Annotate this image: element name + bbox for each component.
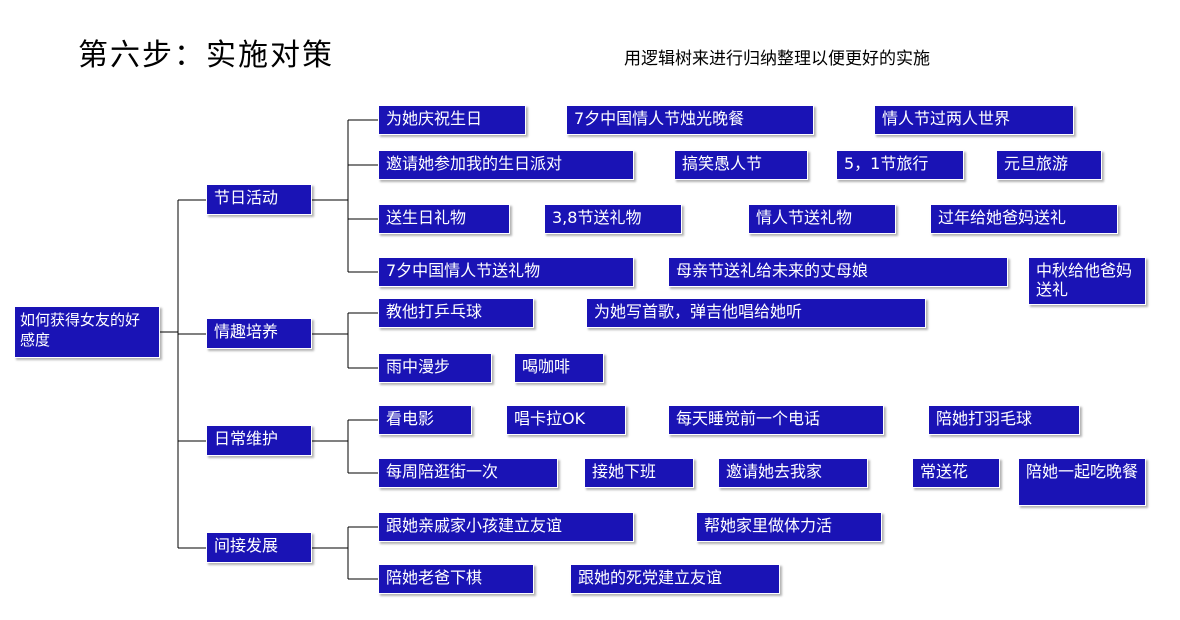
leaf-node[interactable]: 3,8节送礼物 (544, 204, 682, 234)
leaf-node[interactable]: 陪她老爸下棋 (378, 564, 534, 594)
leaf-node[interactable]: 邀请她去我家 (718, 458, 868, 488)
leaf-node[interactable]: 过年给她爸妈送礼 (930, 204, 1118, 234)
leaf-node[interactable]: 陪她打羽毛球 (928, 405, 1080, 435)
leaf-node[interactable]: 送生日礼物 (378, 204, 510, 234)
leaf-node[interactable]: 唱卡拉OK (506, 405, 626, 435)
leaf-node[interactable]: 情人节过两人世界 (874, 105, 1074, 135)
leaf-node[interactable]: 雨中漫步 (378, 353, 492, 383)
leaf-node[interactable]: 7夕中国情人节烛光晚餐 (566, 105, 814, 135)
branch-node-festival[interactable]: 节日活动 (206, 184, 312, 215)
leaf-node[interactable]: 跟她的死党建立友谊 (570, 564, 780, 594)
leaf-node[interactable]: 7夕中国情人节送礼物 (378, 257, 634, 287)
leaf-node[interactable]: 每天睡觉前一个电话 (668, 405, 884, 435)
branch-node-interest[interactable]: 情趣培养 (206, 318, 312, 349)
leaf-node[interactable]: 中秋给他爸妈送礼 (1028, 257, 1146, 305)
leaf-node[interactable]: 邀请她参加我的生日派对 (378, 150, 634, 180)
leaf-node[interactable]: 情人节送礼物 (748, 204, 896, 234)
leaf-node[interactable]: 教他打乒乓球 (378, 298, 534, 328)
leaf-node[interactable]: 喝咖啡 (514, 353, 604, 383)
leaf-node[interactable]: 陪她一起吃晚餐 (1018, 458, 1146, 506)
leaf-node[interactable]: 看电影 (378, 405, 472, 435)
root-node[interactable]: 如何获得女友的好感度 (14, 306, 160, 358)
leaf-node[interactable]: 搞笑愚人节 (674, 150, 808, 180)
leaf-node[interactable]: 5，1节旅行 (836, 150, 964, 180)
leaf-node[interactable]: 为她庆祝生日 (378, 105, 526, 135)
branch-node-indirect[interactable]: 间接发展 (206, 532, 312, 563)
diagram-canvas: 第六步：实施对策 用逻辑树来进行归纳整理以便更好的实施 (0, 0, 1180, 620)
leaf-node[interactable]: 跟她亲戚家小孩建立友谊 (378, 512, 634, 542)
leaf-node[interactable]: 帮她家里做体力活 (696, 512, 882, 542)
leaf-node[interactable]: 每周陪逛街一次 (378, 458, 558, 488)
leaf-node[interactable]: 母亲节送礼给未来的丈母娘 (668, 257, 1008, 287)
branch-node-daily[interactable]: 日常维护 (206, 425, 312, 456)
leaf-node[interactable]: 接她下班 (584, 458, 694, 488)
leaf-node[interactable]: 为她写首歌，弹吉他唱给她听 (586, 298, 926, 328)
leaf-node[interactable]: 元旦旅游 (996, 150, 1102, 180)
leaf-node[interactable]: 常送花 (912, 458, 1000, 488)
